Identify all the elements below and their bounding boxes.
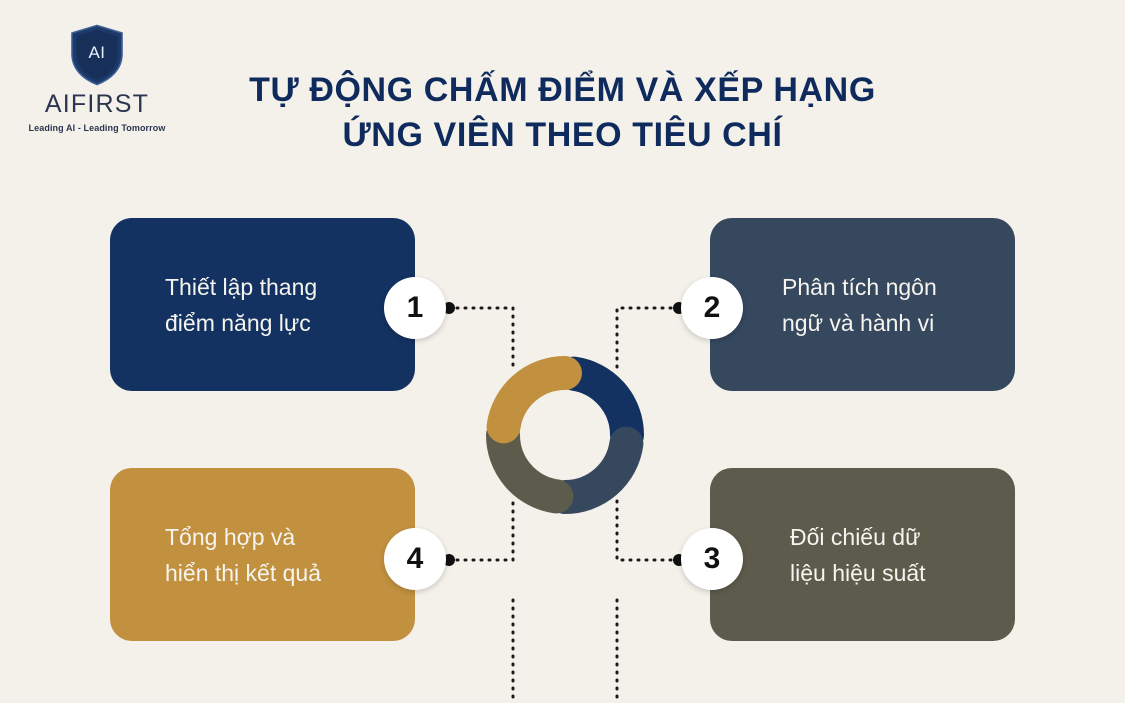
step-card-2-label-line-2: ngữ và hành vi bbox=[782, 305, 937, 341]
step-card-3[interactable]: Đối chiếu dữ liệu hiệu suất bbox=[710, 468, 1015, 641]
step-badge-1[interactable]: 1 bbox=[384, 277, 446, 339]
step-card-2-label: Phân tích ngôn ngữ và hành vi bbox=[782, 269, 937, 341]
step-card-1[interactable]: Thiết lập thang điểm năng lực bbox=[110, 218, 415, 391]
step-badge-2[interactable]: 2 bbox=[681, 277, 743, 339]
brand-logo: AI AIFIRST Leading AI - Leading Tomorrow bbox=[22, 24, 172, 133]
step-badge-3[interactable]: 3 bbox=[681, 528, 743, 590]
step-card-3-label: Đối chiếu dữ liệu hiệu suất bbox=[790, 519, 926, 591]
step-card-1-label-line-1: Thiết lập thang bbox=[165, 269, 317, 305]
step-card-4[interactable]: Tổng hợp và hiển thị kết quả bbox=[110, 468, 415, 641]
page-title: TỰ ĐỘNG CHẤM ĐIỂM VÀ XẾP HẠNG ỨNG VIÊN T… bbox=[195, 68, 930, 158]
page-title-line-2: ỨNG VIÊN THEO TIÊU CHÍ bbox=[195, 113, 930, 158]
donut-segment-4 bbox=[504, 373, 565, 426]
brand-wordmark: AIFIRST bbox=[22, 92, 172, 117]
step-card-3-label-line-2: liệu hiệu suất bbox=[790, 555, 926, 591]
donut-chart bbox=[482, 352, 648, 518]
step-card-4-label: Tổng hợp và hiển thị kết quả bbox=[165, 519, 321, 591]
brand-tagline: Leading AI - Leading Tomorrow bbox=[22, 124, 172, 133]
shield-ai-logo-icon: AI bbox=[69, 24, 125, 86]
step-card-2-label-line-1: Phân tích ngôn bbox=[782, 269, 937, 305]
step-card-4-label-line-1: Tổng hợp và bbox=[165, 519, 321, 555]
page-title-line-1: TỰ ĐỘNG CHẤM ĐIỂM VÀ XẾP HẠNG bbox=[195, 68, 930, 113]
donut-segment-1 bbox=[574, 374, 627, 435]
donut-chart-svg bbox=[482, 352, 648, 518]
donut-segment-2 bbox=[565, 444, 626, 497]
step-card-4-label-line-2: hiển thị kết quả bbox=[165, 555, 321, 591]
step-card-1-label: Thiết lập thang điểm năng lực bbox=[165, 269, 317, 341]
step-card-2[interactable]: Phân tích ngôn ngữ và hành vi bbox=[710, 218, 1015, 391]
step-card-3-label-line-1: Đối chiếu dữ bbox=[790, 519, 926, 555]
step-card-1-label-line-2: điểm năng lực bbox=[165, 305, 317, 341]
donut-segment-3 bbox=[503, 435, 556, 496]
step-badge-4[interactable]: 4 bbox=[384, 528, 446, 590]
svg-text:AI: AI bbox=[88, 43, 105, 62]
infographic-canvas: AI AIFIRST Leading AI - Leading Tomorrow… bbox=[0, 0, 1125, 703]
